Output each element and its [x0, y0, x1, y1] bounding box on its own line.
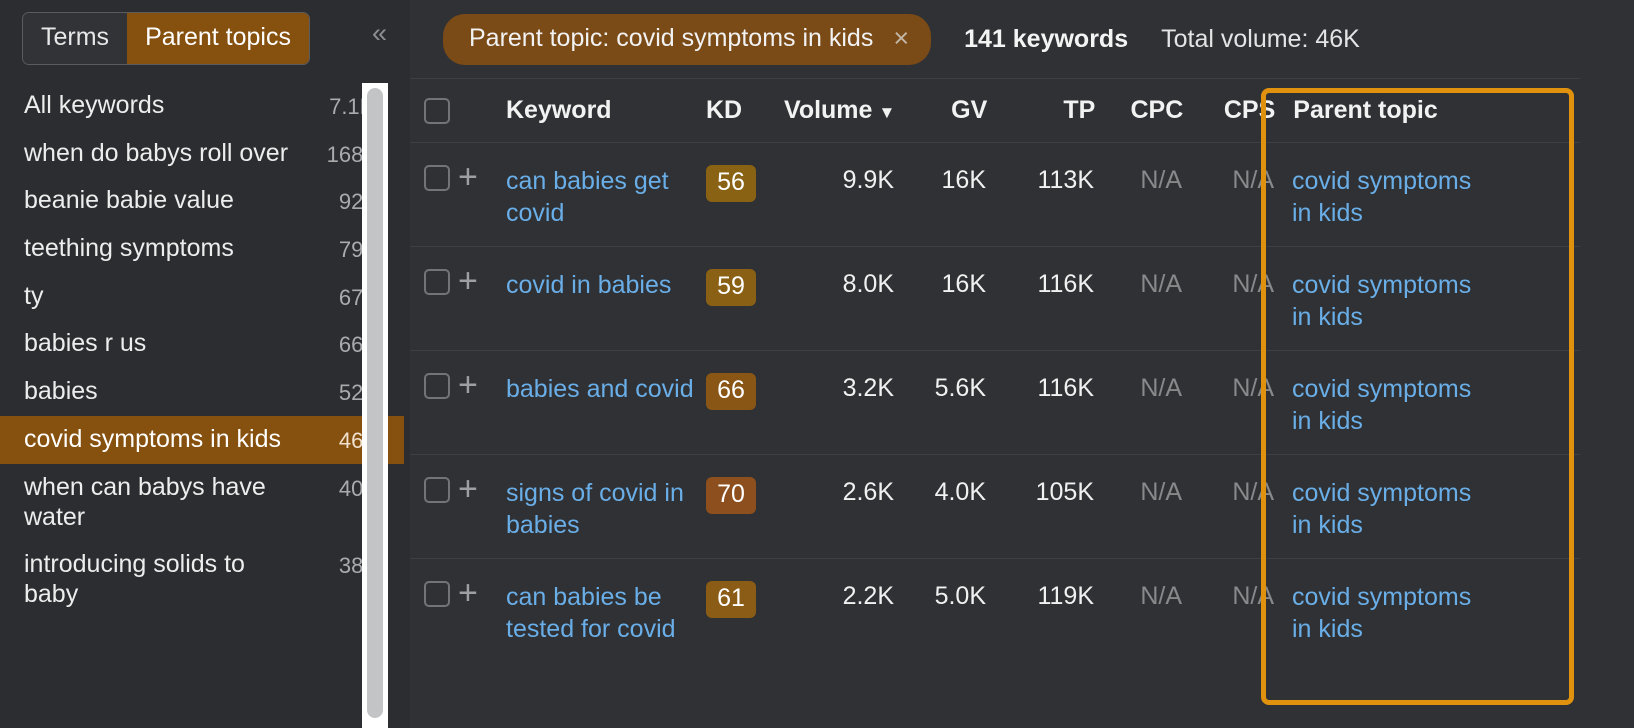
cpc-value: N/A: [1140, 166, 1182, 194]
cps-cell: N/A: [1182, 559, 1274, 611]
sidebar-item[interactable]: covid symptoms in kids46K: [0, 416, 404, 464]
column-header-cps[interactable]: CPS: [1183, 96, 1275, 125]
parent-topic-cell: covid symptoms in kids: [1274, 455, 1484, 541]
kd-badge: 70: [706, 477, 756, 514]
row-expand-cell: +: [458, 143, 506, 191]
sidebar-item-label: when do babys roll over: [24, 138, 288, 169]
keyword-cell: covid in babies: [506, 247, 706, 301]
column-header-kd[interactable]: KD: [706, 96, 784, 125]
cps-value: N/A: [1232, 166, 1274, 194]
filter-pill-label: Parent topic: covid symptoms in kids: [469, 24, 873, 53]
sidebar: TermsParent topics « All keywords7.1Mwhe…: [0, 0, 410, 728]
keyword-link[interactable]: can babies be tested for covid: [506, 581, 706, 645]
sidebar-item[interactable]: ty67K: [0, 273, 404, 321]
expand-plus-icon[interactable]: +: [458, 477, 506, 503]
row-expand-cell: +: [458, 559, 506, 607]
table-row[interactable]: +babies and covid663.2K5.6K116KN/AN/Acov…: [410, 350, 1580, 454]
row-checkbox[interactable]: [424, 165, 450, 191]
tp-cell: 119K: [986, 559, 1094, 611]
gv-cell: 4.0K: [894, 455, 986, 507]
kd-cell: 61: [706, 559, 784, 618]
cps-cell: N/A: [1182, 455, 1274, 507]
table-row[interactable]: +can babies be tested for covid612.2K5.0…: [410, 558, 1580, 662]
sidebar-item[interactable]: introducing solids to baby38K: [0, 541, 404, 618]
cps-cell: N/A: [1182, 247, 1274, 299]
column-header-cpc[interactable]: CPC: [1095, 96, 1183, 125]
row-select-cell: [410, 247, 458, 295]
tp-value: 116K: [1037, 270, 1094, 298]
parent-topic-link[interactable]: covid symptoms in kids: [1292, 477, 1484, 541]
keyword-link[interactable]: can babies get covid: [506, 165, 706, 229]
keyword-cell: can babies be tested for covid: [506, 559, 706, 645]
row-expand-cell: +: [458, 455, 506, 503]
kd-cell: 59: [706, 247, 784, 306]
cps-value: N/A: [1232, 374, 1274, 402]
cpc-value: N/A: [1140, 270, 1182, 298]
sidebar-item[interactable]: All keywords7.1M: [0, 82, 404, 130]
expand-plus-icon[interactable]: +: [458, 373, 506, 399]
volume-value: 2.6K: [843, 478, 894, 506]
row-select-cell: [410, 143, 458, 191]
keyword-link[interactable]: babies and covid: [506, 373, 706, 405]
volume-cell: 8.0K: [784, 247, 894, 299]
volume-value: 3.2K: [843, 374, 894, 402]
cps-value: N/A: [1232, 582, 1274, 610]
column-header-volume-label: Volume: [784, 96, 872, 124]
cps-cell: N/A: [1182, 351, 1274, 403]
tp-cell: 113K: [986, 143, 1094, 195]
kd-cell: 56: [706, 143, 784, 202]
gv-cell: 5.0K: [894, 559, 986, 611]
sidebar-item-label: beanie babie value: [24, 185, 234, 216]
tp-value: 105K: [1036, 478, 1094, 506]
sidebar-scrollbar-thumb[interactable]: [367, 88, 383, 718]
cpc-cell: N/A: [1094, 247, 1182, 299]
sidebar-item[interactable]: when can babys have water40K: [0, 464, 404, 541]
gv-cell: 5.6K: [894, 351, 986, 403]
kd-badge: 66: [706, 373, 756, 410]
sidebar-item-label: teething symptoms: [24, 233, 234, 264]
volume-value: 9.9K: [843, 166, 894, 194]
expand-plus-icon[interactable]: +: [458, 269, 506, 295]
volume-value: 8.0K: [843, 270, 894, 298]
cpc-value: N/A: [1140, 478, 1182, 506]
select-all-cell: [410, 98, 458, 124]
tp-value: 113K: [1037, 166, 1094, 194]
row-select-cell: [410, 559, 458, 607]
gv-value: 16K: [942, 270, 986, 298]
sidebar-scrollbar-track[interactable]: [362, 83, 388, 728]
gv-value: 5.6K: [935, 374, 986, 402]
kd-cell: 70: [706, 455, 784, 514]
keyword-group-list[interactable]: All keywords7.1Mwhen do babys roll over1…: [0, 82, 404, 728]
sidebar-item-label: babies r us: [24, 328, 146, 359]
volume-cell: 3.2K: [784, 351, 894, 403]
row-expand-cell: +: [458, 351, 506, 399]
tp-value: 116K: [1037, 374, 1094, 402]
cpc-cell: N/A: [1094, 455, 1182, 507]
parent-topic-cell: covid symptoms in kids: [1274, 247, 1484, 333]
row-checkbox[interactable]: [424, 477, 450, 503]
row-checkbox[interactable]: [424, 373, 450, 399]
volume-cell: 2.6K: [784, 455, 894, 507]
sort-descending-icon: ▼: [878, 103, 895, 122]
parent-topic-link[interactable]: covid symptoms in kids: [1292, 373, 1484, 437]
cps-cell: N/A: [1182, 143, 1274, 195]
toggle-parent-topics[interactable]: Parent topics: [127, 13, 309, 64]
keyword-cell: can babies get covid: [506, 143, 706, 229]
row-select-cell: [410, 351, 458, 399]
column-header-tp[interactable]: TP: [987, 96, 1095, 125]
table-row[interactable]: +signs of covid in babies702.6K4.0K105KN…: [410, 454, 1580, 558]
kd-cell: 66: [706, 351, 784, 410]
sidebar-item[interactable]: beanie babie value92K: [0, 177, 404, 225]
cpc-value: N/A: [1140, 582, 1182, 610]
parent-topic-link[interactable]: covid symptoms in kids: [1292, 581, 1484, 645]
expand-plus-icon[interactable]: +: [458, 581, 506, 607]
gv-value: 4.0K: [935, 478, 986, 506]
sidebar-item-label: ty: [24, 281, 43, 312]
volume-value: 2.2K: [843, 582, 894, 610]
parent-topic-link[interactable]: covid symptoms in kids: [1292, 165, 1484, 229]
volume-cell: 2.2K: [784, 559, 894, 611]
table-header-row: Keyword KD Volume▼ GV TP CPC CPS Parent …: [410, 78, 1580, 142]
gv-cell: 16K: [894, 143, 986, 195]
tp-cell: 116K: [986, 351, 1094, 403]
row-select-cell: [410, 455, 458, 503]
parent-topic-link[interactable]: covid symptoms in kids: [1292, 269, 1484, 333]
gv-cell: 16K: [894, 247, 986, 299]
sidebar-item-label: babies: [24, 376, 98, 407]
row-checkbox[interactable]: [424, 269, 450, 295]
cpc-cell: N/A: [1094, 351, 1182, 403]
parent-topic-filter-pill[interactable]: Parent topic: covid symptoms in kids ×: [443, 14, 931, 65]
close-icon[interactable]: ×: [893, 25, 909, 52]
keyword-cell: signs of covid in babies: [506, 455, 706, 541]
column-header-parent-topic[interactable]: Parent topic: [1275, 96, 1485, 125]
table-row[interactable]: +covid in babies598.0K16K116KN/AN/Acovid…: [410, 246, 1580, 350]
expand-plus-icon[interactable]: +: [458, 165, 506, 191]
gv-value: 16K: [942, 166, 986, 194]
kd-badge: 56: [706, 165, 756, 202]
sidebar-item-label: All keywords: [24, 90, 164, 121]
sidebar-item-label: covid symptoms in kids: [24, 424, 281, 455]
toggle-terms[interactable]: Terms: [23, 13, 127, 64]
cps-value: N/A: [1232, 478, 1274, 506]
sidebar-item[interactable]: teething symptoms79K: [0, 225, 404, 273]
cpc-value: N/A: [1140, 374, 1182, 402]
total-volume-label: Total volume: 46K: [1161, 25, 1360, 54]
sidebar-item[interactable]: babies r us66K: [0, 320, 404, 368]
column-header-gv[interactable]: GV: [895, 96, 987, 125]
parent-topic-cell: covid symptoms in kids: [1274, 351, 1484, 437]
select-all-checkbox[interactable]: [424, 98, 450, 124]
row-expand-cell: +: [458, 247, 506, 295]
cpc-cell: N/A: [1094, 559, 1182, 611]
parent-topic-cell: covid symptoms in kids: [1274, 143, 1484, 229]
keywords-table: Keyword KD Volume▼ GV TP CPC CPS Parent …: [410, 78, 1580, 662]
sidebar-item-label: introducing solids to baby: [24, 549, 296, 610]
keyword-link[interactable]: signs of covid in babies: [506, 477, 706, 541]
collapse-sidebar-icon[interactable]: «: [372, 20, 384, 47]
tp-cell: 116K: [986, 247, 1094, 299]
keyword-link[interactable]: covid in babies: [506, 269, 706, 301]
sidebar-item[interactable]: babies52K: [0, 368, 404, 416]
sidebar-item-label: when can babys have water: [24, 472, 296, 533]
view-mode-toggle-group[interactable]: TermsParent topics: [22, 12, 310, 65]
gv-value: 5.0K: [935, 582, 986, 610]
cps-value: N/A: [1232, 270, 1274, 298]
column-header-keyword[interactable]: Keyword: [506, 96, 706, 125]
row-checkbox[interactable]: [424, 581, 450, 607]
main-panel: Parent topic: covid symptoms in kids × 1…: [410, 0, 1580, 728]
tp-value: 119K: [1037, 582, 1094, 610]
column-header-volume[interactable]: Volume▼: [784, 96, 895, 125]
results-header: Parent topic: covid symptoms in kids × 1…: [410, 0, 1580, 78]
table-row[interactable]: +can babies get covid569.9K16K113KN/AN/A…: [410, 142, 1580, 246]
kd-badge: 59: [706, 269, 756, 306]
kd-badge: 61: [706, 581, 756, 618]
volume-cell: 9.9K: [784, 143, 894, 195]
tp-cell: 105K: [986, 455, 1094, 507]
parent-topic-cell: covid symptoms in kids: [1274, 559, 1484, 645]
cpc-cell: N/A: [1094, 143, 1182, 195]
keyword-count-label: 141 keywords: [964, 25, 1128, 54]
keyword-cell: babies and covid: [506, 351, 706, 405]
sidebar-item[interactable]: when do babys roll over168K: [0, 130, 404, 178]
